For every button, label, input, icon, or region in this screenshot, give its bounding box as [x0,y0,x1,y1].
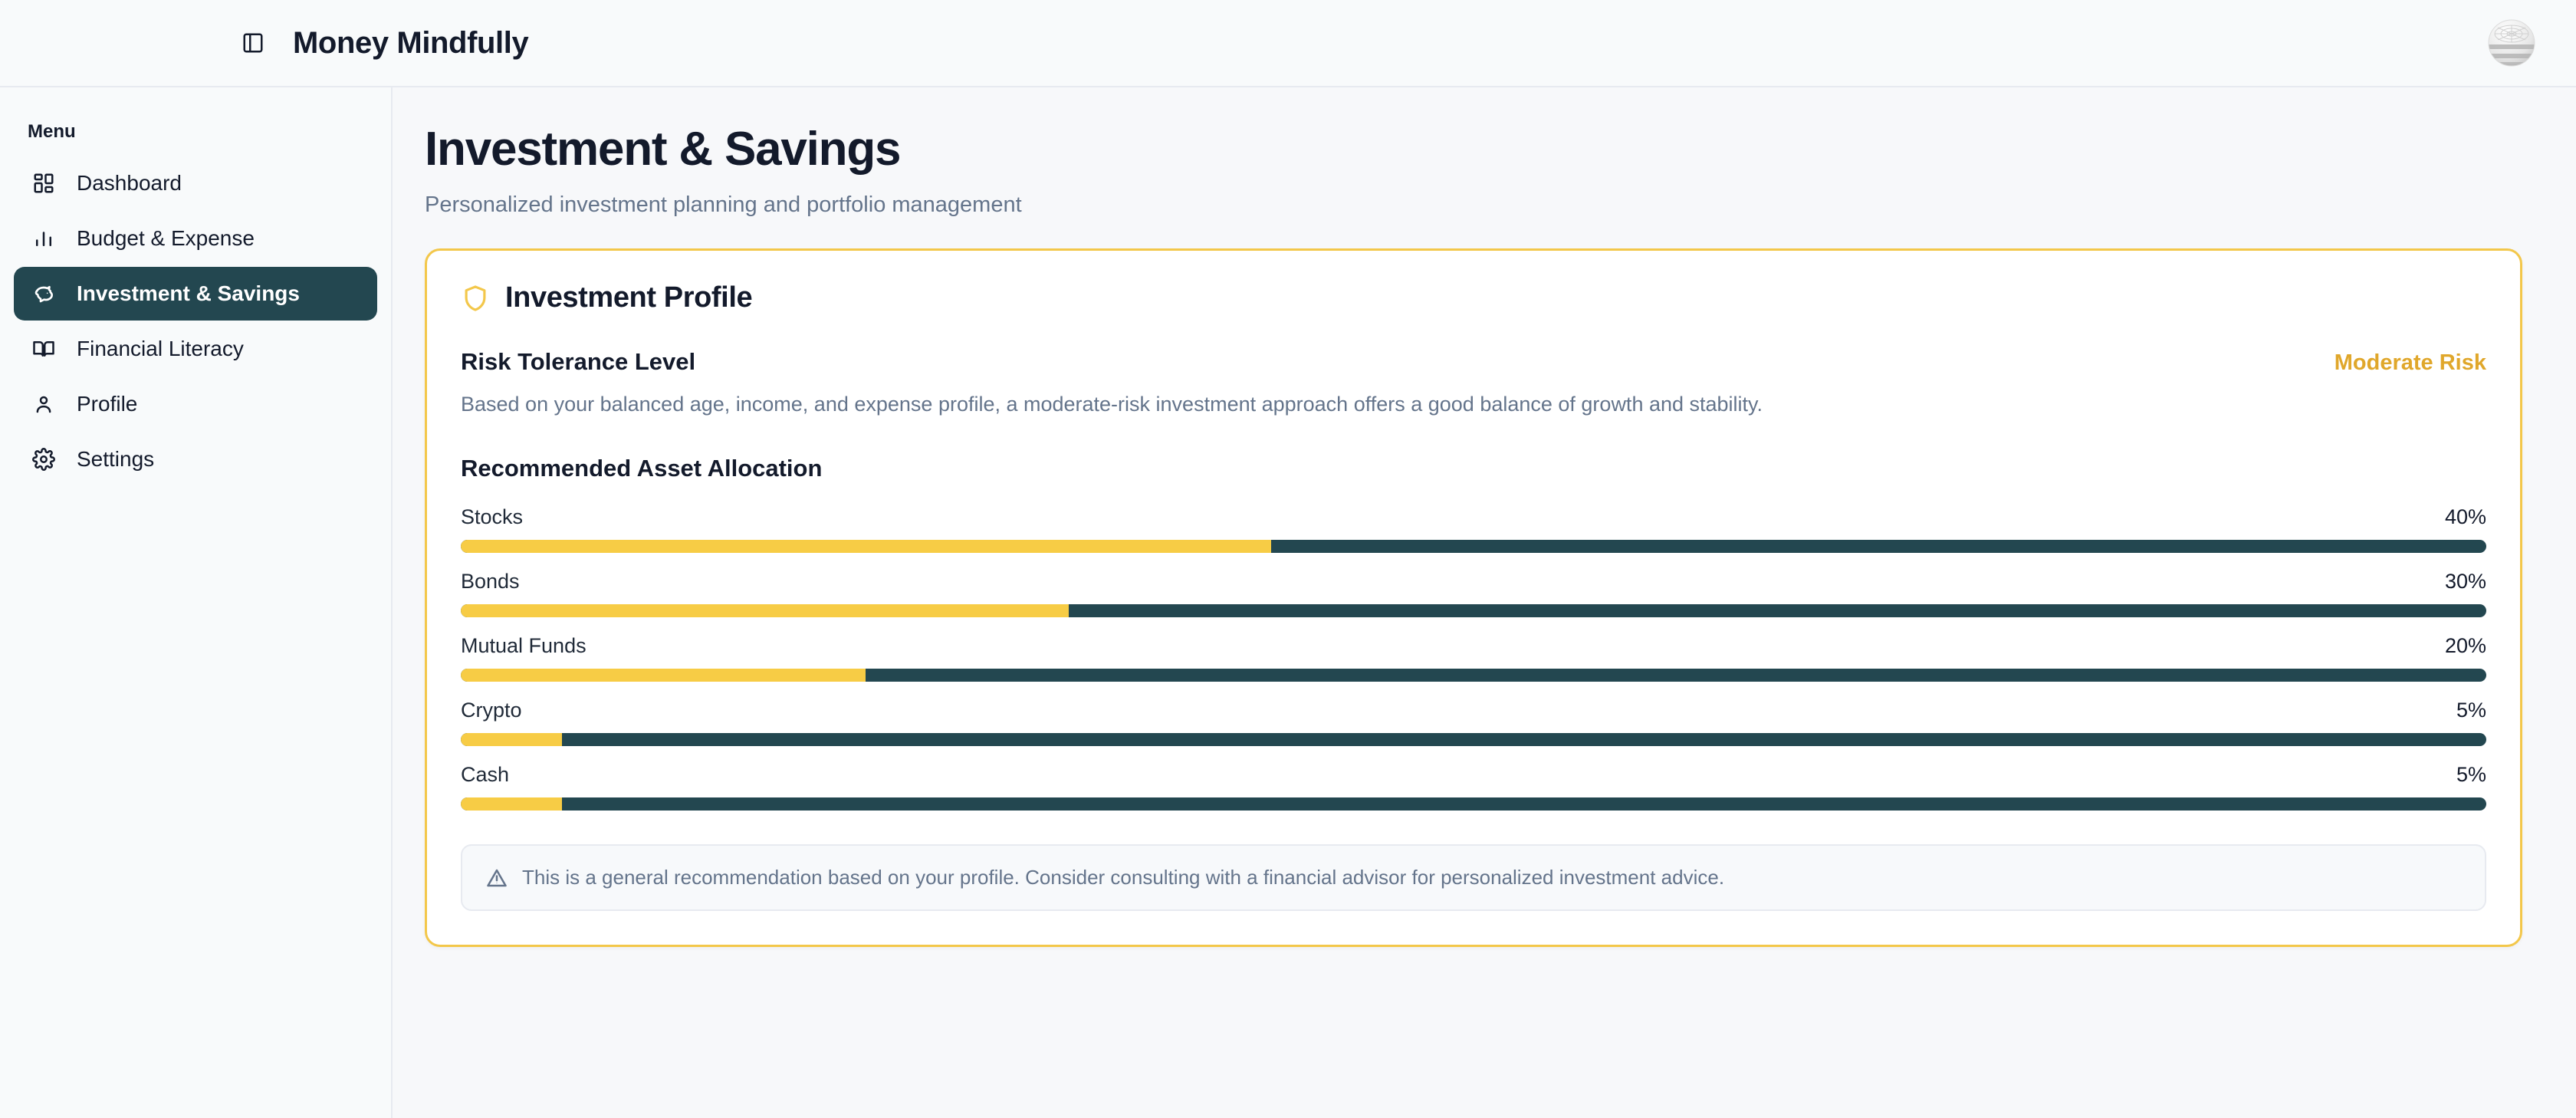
risk-tolerance-row: Risk Tolerance Level Moderate Risk [461,348,2486,376]
warning-triangle-icon [485,866,508,889]
allocation-row-header: Crypto5% [461,699,2486,722]
app-root: Money Mindfully [0,0,2576,1118]
disclaimer-note: This is a general recommendation based o… [461,844,2486,911]
sidebar-item-label: Budget & Expense [77,226,255,251]
book-open-icon [31,336,57,362]
sidebar: Menu Dashboard [0,87,393,1118]
gear-icon [31,446,57,472]
allocation-row-header: Cash5% [461,763,2486,787]
card-title: Investment Profile [505,281,752,314]
allocation-progress-track [461,540,2486,553]
menu-section-label: Menu [14,109,377,156]
allocation-progress-fill [461,797,562,811]
allocation-progress-fill [461,669,866,682]
allocation-row-header: Bonds30% [461,570,2486,594]
allocation-percentage: 5% [2456,699,2486,722]
allocation-percentage: 40% [2445,505,2486,529]
allocation-progress-fill [461,540,1271,553]
sidebar-item-investment-savings[interactable]: Investment & Savings [14,267,377,321]
sidebar-item-label: Settings [77,447,154,472]
sidebar-item-label: Profile [77,392,137,416]
allocation-row: Cash5% [461,763,2486,811]
grid-icon [31,170,57,196]
user-avatar-icon [2487,18,2536,67]
sidebar-item-settings[interactable]: Settings [14,432,377,486]
allocation-asset-name: Bonds [461,570,520,594]
avatar[interactable] [2487,18,2536,67]
sidebar-item-financial-literacy[interactable]: Financial Literacy [14,322,377,376]
risk-tolerance-label: Risk Tolerance Level [461,348,695,376]
investment-profile-card: Investment Profile Risk Tolerance Level … [425,248,2522,947]
sidebar-item-label: Financial Literacy [77,337,244,361]
main-content: Investment & Savings Personalized invest… [393,87,2576,1118]
allocation-row-header: Mutual Funds20% [461,634,2486,658]
allocation-progress-track [461,669,2486,682]
allocation-row-header: Stocks40% [461,505,2486,529]
sidebar-item-label: Investment & Savings [77,281,300,306]
sidebar-item-budget-expense[interactable]: Budget & Expense [14,212,377,265]
brand-title: Money Mindfully [293,26,528,61]
shield-icon [461,283,490,314]
allocation-row: Mutual Funds20% [461,634,2486,682]
allocation-row: Stocks40% [461,505,2486,553]
page-subtitle: Personalized investment planning and por… [425,192,2522,218]
allocation-asset-name: Crypto [461,699,522,722]
sidebar-item-profile[interactable]: Profile [14,377,377,431]
allocation-row: Crypto5% [461,699,2486,746]
allocation-progress-track [461,797,2486,811]
piggy-bank-icon [31,281,57,307]
sidebar-item-dashboard[interactable]: Dashboard [14,156,377,210]
risk-level-badge: Moderate Risk [2334,350,2486,376]
allocation-progress-fill [461,733,562,746]
sidebar-item-label: Dashboard [77,171,182,196]
allocation-percentage: 20% [2445,634,2486,658]
panel-left-icon [242,31,264,54]
user-icon [31,391,57,417]
top-bar: Money Mindfully [0,0,2576,87]
allocation-list: Stocks40%Bonds30%Mutual Funds20%Crypto5%… [461,505,2486,811]
allocation-row: Bonds30% [461,570,2486,617]
sidebar-toggle-button[interactable] [233,23,273,63]
risk-description: Based on your balanced age, income, and … [461,393,2486,416]
card-header: Investment Profile [461,281,2486,314]
allocation-percentage: 30% [2445,570,2486,594]
body-split: Menu Dashboard [0,87,2576,1118]
allocation-percentage: 5% [2456,763,2486,787]
allocation-asset-name: Mutual Funds [461,634,586,658]
allocation-title: Recommended Asset Allocation [461,455,2486,482]
allocation-asset-name: Stocks [461,505,523,529]
page-title: Investment & Savings [425,124,2522,174]
allocation-progress-track [461,733,2486,746]
allocation-progress-track [461,604,2486,617]
allocation-progress-fill [461,604,1069,617]
bar-chart-icon [31,225,57,252]
disclaimer-text: This is a general recommendation based o… [522,866,1724,889]
allocation-asset-name: Cash [461,763,509,787]
